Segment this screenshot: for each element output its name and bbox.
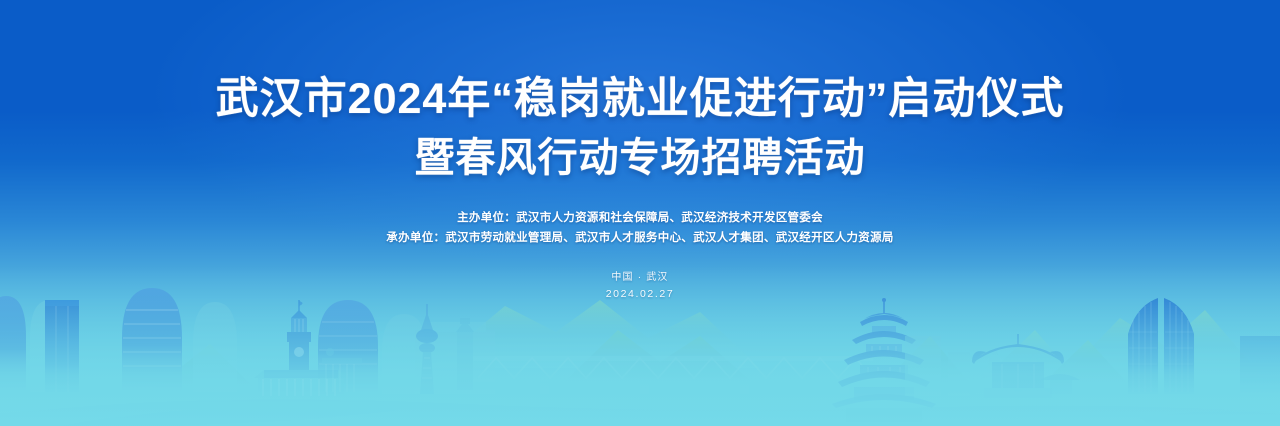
- event-location: 中国 · 武汉: [0, 270, 1280, 286]
- rectangular-tower-left: [45, 300, 79, 392]
- banner-title-line-2: 暨春风行动专场招聘活动: [0, 132, 1280, 184]
- event-date: 2024.02.27: [0, 286, 1280, 302]
- river-curve: [0, 400, 1280, 426]
- far-right-building: [1240, 336, 1280, 396]
- banner-title-line-1: 武汉市2024年“稳岗就业促进行动”启动仪式: [0, 72, 1280, 126]
- co-organizer-line: 承办单位：武汉市劳动就业管理局、武汉市人才服务中心、武汉人才集团、武汉经开区人力…: [0, 228, 1280, 248]
- event-banner: 武汉市2024年“稳岗就业促进行动”启动仪式 暨春风行动专场招聘活动 主办单位：…: [0, 0, 1280, 426]
- banner-text-stack: 武汉市2024年“稳岗就业促进行动”启动仪式 暨春风行动专场招聘活动 主办单位：…: [0, 0, 1280, 302]
- host-organization-line: 主办单位：武汉市人力资源和社会保障局、武汉经济技术开发区管委会: [0, 208, 1280, 228]
- dome-buildings-left: [0, 288, 237, 392]
- organizer-block: 主办单位：武汉市人力资源和社会保障局、武汉经济技术开发区管委会 承办单位：武汉市…: [0, 208, 1280, 248]
- place-date-block: 中国 · 武汉 2024.02.27: [0, 270, 1280, 302]
